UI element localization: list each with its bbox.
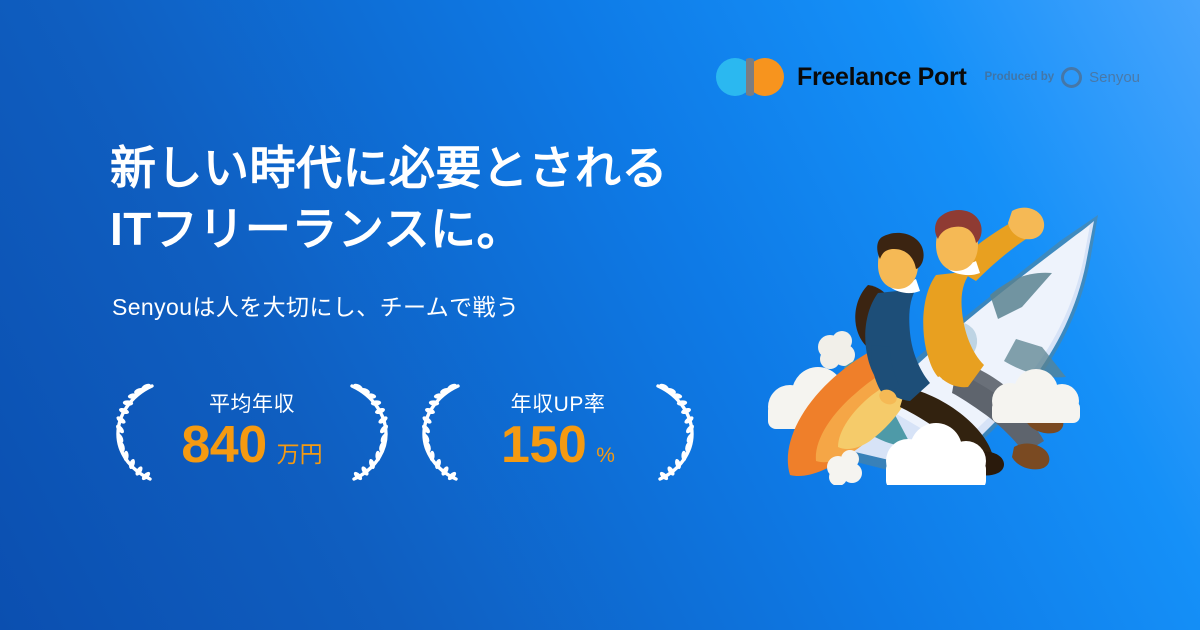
headline-line-2: ITフリーランスに。 xyxy=(110,199,668,260)
overlapping-circles-logo-icon xyxy=(716,58,784,96)
brand-wordmark: Freelance Port xyxy=(797,63,966,92)
produced-by-label: Produced by xyxy=(984,71,1054,83)
rocket-illustration xyxy=(760,175,1110,485)
stat-number: 150 xyxy=(501,419,586,471)
stats-group: 平均年収 840 万円 xyxy=(108,378,702,486)
stat-badge: 平均年収 840 万円 xyxy=(108,378,396,486)
laurel-wreath-icon xyxy=(652,380,698,484)
page-subtitle: Senyouは人を大切にし、チームで戦う xyxy=(112,288,519,322)
produced-by-credit: Produced by Senyou xyxy=(984,67,1140,88)
stat-label: 平均年収 xyxy=(209,394,295,415)
stat-label: 年収UP率 xyxy=(511,394,606,415)
cloud-icon xyxy=(818,331,855,369)
producer-name: Senyou xyxy=(1089,69,1140,86)
stat-badge: 年収UP率 150 % xyxy=(414,378,702,486)
stat-value-row: 840 万円 xyxy=(181,419,322,471)
logo-circle-overlap xyxy=(746,58,754,96)
headline-line-1: 新しい時代に必要とされる xyxy=(110,138,668,199)
hero-banner: Freelance Port Produced by Senyou 新しい時代に… xyxy=(0,0,1200,630)
stat-value-row: 150 % xyxy=(501,419,615,471)
page-title: 新しい時代に必要とされる ITフリーランスに。 xyxy=(110,138,668,259)
stat-number: 840 xyxy=(181,419,266,471)
senyou-ring-icon xyxy=(1061,67,1082,88)
laurel-wreath-icon xyxy=(112,380,158,484)
stat-unit: % xyxy=(596,445,615,466)
laurel-wreath-icon xyxy=(346,380,392,484)
stat-unit: 万円 xyxy=(277,443,323,466)
laurel-wreath-icon xyxy=(418,380,464,484)
brand-logo[interactable]: Freelance Port xyxy=(716,58,966,96)
brand-header: Freelance Port Produced by Senyou xyxy=(716,58,1140,96)
